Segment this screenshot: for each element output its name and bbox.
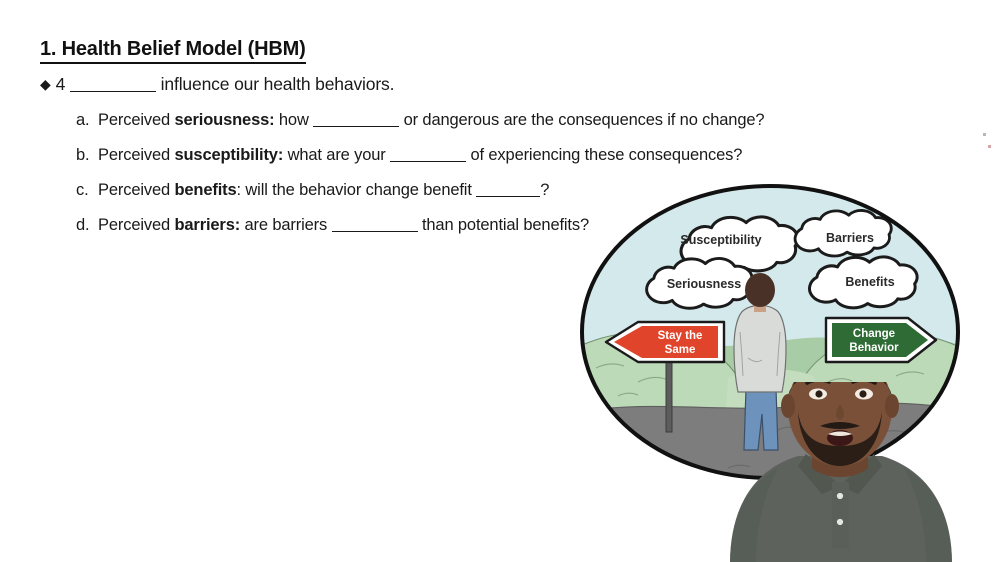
item-marker-d: d. xyxy=(76,216,98,235)
cloud-label-seriousness: Seriousness xyxy=(667,277,741,291)
cloud-label-benefits: Benefits xyxy=(845,275,894,289)
page-title: 1. Health Belief Model (HBM) xyxy=(40,38,306,64)
artifact-speck xyxy=(983,133,986,136)
item-marker-c: c. xyxy=(76,181,98,200)
outline-item-a: a.Perceived seriousness: how or dangerou… xyxy=(76,111,764,130)
main-bullet-line: ◆4 influence our health behaviors. xyxy=(40,74,394,95)
item-d-pre: Perceived xyxy=(98,216,170,234)
pupil-left xyxy=(815,390,822,397)
shirt-button xyxy=(837,519,843,525)
item-marker-b: b. xyxy=(76,146,98,165)
outline-item-c: c.Perceived benefits: will the behavior … xyxy=(76,181,549,200)
fill-in-blank xyxy=(476,183,540,197)
fill-in-blank xyxy=(332,218,418,232)
item-c-term: benefits xyxy=(174,181,236,199)
outline-item-d: d.Perceived barriers: are barriers than … xyxy=(76,216,589,235)
item-b-post: of experiencing these consequences? xyxy=(471,146,743,164)
shirt-placket xyxy=(832,482,849,548)
item-d-post: than potential benefits? xyxy=(422,216,589,234)
ear-right xyxy=(885,394,899,418)
item-d-mid: are barriers xyxy=(245,216,328,234)
item-a-term: seriousness: xyxy=(174,111,274,129)
fill-in-blank xyxy=(70,78,156,92)
item-c-mid: will the behavior change benefit xyxy=(245,181,471,199)
item-marker-a: a. xyxy=(76,111,98,130)
main-bullet-post: influence our health behaviors. xyxy=(161,74,395,94)
presentation-slide: 1. Health Belief Model (HBM) ◆4 influenc… xyxy=(0,0,1000,562)
item-b-term: susceptibility: xyxy=(174,146,283,164)
fill-in-blank xyxy=(313,113,399,127)
item-a-pre: Perceived xyxy=(98,111,170,129)
sign-left-line1: Stay the xyxy=(658,330,703,342)
item-c-pre: Perceived xyxy=(98,181,170,199)
fill-in-blank xyxy=(390,148,466,162)
item-b-pre: Perceived xyxy=(98,146,170,164)
item-c-term-tail: : xyxy=(237,181,241,199)
outline-item-b: b.Perceived susceptibility: what are you… xyxy=(76,146,742,165)
sign-right-line2: Behavior xyxy=(849,342,899,354)
cloud-label-barriers: Barriers xyxy=(826,231,874,245)
item-c-post: ? xyxy=(540,181,549,199)
item-d-term: barriers: xyxy=(174,216,240,234)
item-b-mid: what are your xyxy=(288,146,386,164)
sign-right-line1: Change xyxy=(853,328,895,340)
diamond-bullet-icon: ◆ xyxy=(40,76,51,92)
shirt-button xyxy=(837,493,843,499)
ear-left xyxy=(781,394,795,418)
item-a-post: or dangerous are the consequences if no … xyxy=(404,111,765,129)
sign-left-line2: Same xyxy=(665,344,696,356)
artifact-speck xyxy=(988,145,991,148)
instructor-webcam-overlay xyxy=(672,382,1000,562)
pupil-right xyxy=(859,390,866,397)
main-bullet-pre: 4 xyxy=(56,74,66,94)
item-a-mid: how xyxy=(279,111,309,129)
cloud-label-susceptibility: Susceptibility xyxy=(680,233,761,247)
